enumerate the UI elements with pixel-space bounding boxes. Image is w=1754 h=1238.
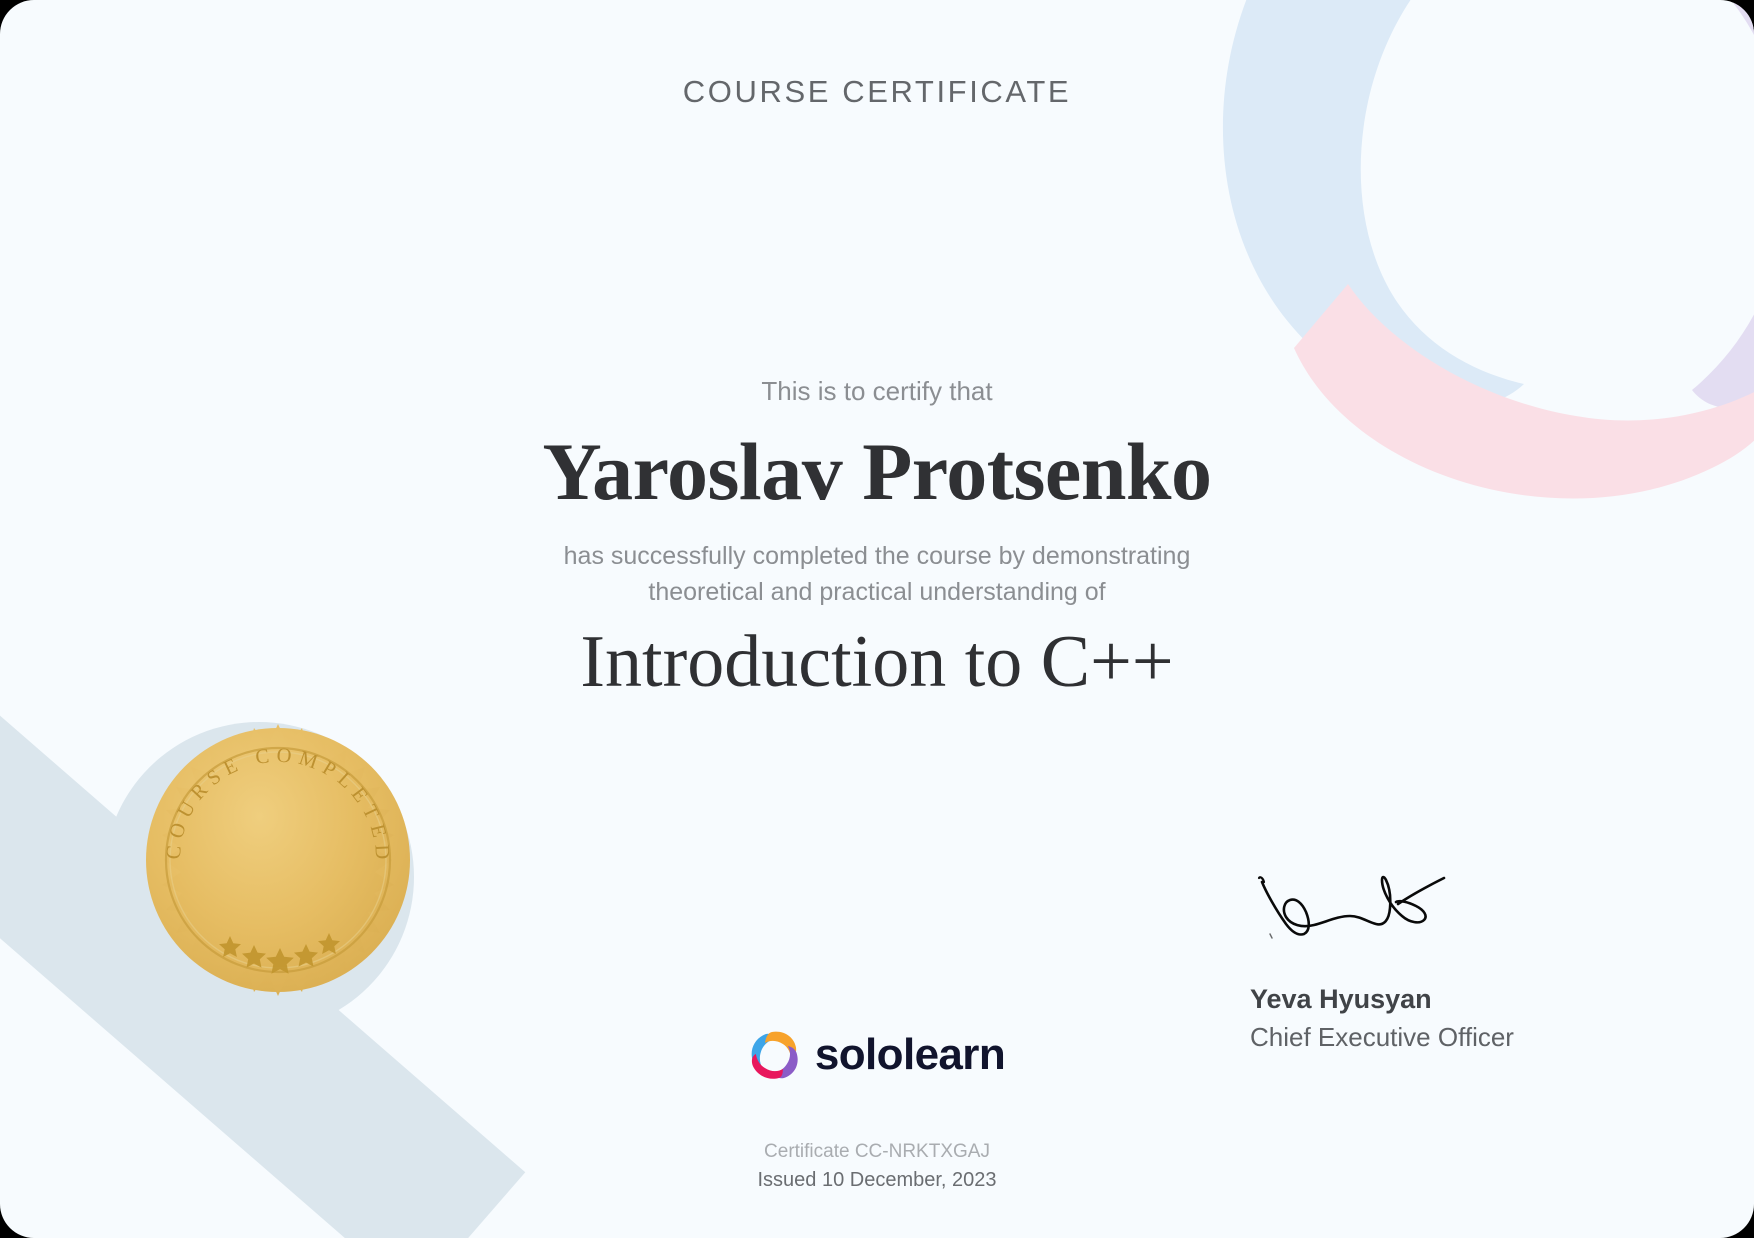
page-title: COURSE CERTIFICATE bbox=[0, 74, 1754, 110]
certificate-meta: Certificate CC-NRKTXGAJ Issued 10 Decemb… bbox=[597, 1138, 1157, 1194]
signature-block: Yeva Hyusyan Chief Executive Officer bbox=[1250, 862, 1650, 1056]
certificate-issued-date: Issued 10 December, 2023 bbox=[597, 1166, 1157, 1194]
signer-name: Yeva Hyusyan bbox=[1250, 980, 1650, 1018]
sololearn-pinwheel-icon bbox=[749, 1030, 799, 1080]
course-name: Introduction to C++ bbox=[0, 620, 1754, 705]
brand-wordmark: sololearn bbox=[815, 1033, 1005, 1077]
recipient-name: Yaroslav Protsenko bbox=[0, 425, 1754, 519]
brand-logo: sololearn bbox=[749, 1030, 1005, 1080]
certify-line: This is to certify that bbox=[0, 376, 1754, 407]
gold-seal-icon: COURSE COMPLETED bbox=[140, 722, 416, 998]
signer-role: Chief Executive Officer bbox=[1250, 1018, 1650, 1056]
certificate-page: COURSE CERTIFICATE This is to certify th… bbox=[0, 0, 1754, 1238]
body-line-1: has successfully completed the course by… bbox=[467, 538, 1287, 574]
handwritten-signature-icon bbox=[1250, 862, 1490, 958]
certificate-content: COURSE CERTIFICATE This is to certify th… bbox=[0, 0, 1754, 1238]
body-text: has successfully completed the course by… bbox=[467, 538, 1287, 610]
certificate-id: Certificate CC-NRKTXGAJ bbox=[597, 1138, 1157, 1166]
body-line-2: theoretical and practical understanding … bbox=[467, 574, 1287, 610]
